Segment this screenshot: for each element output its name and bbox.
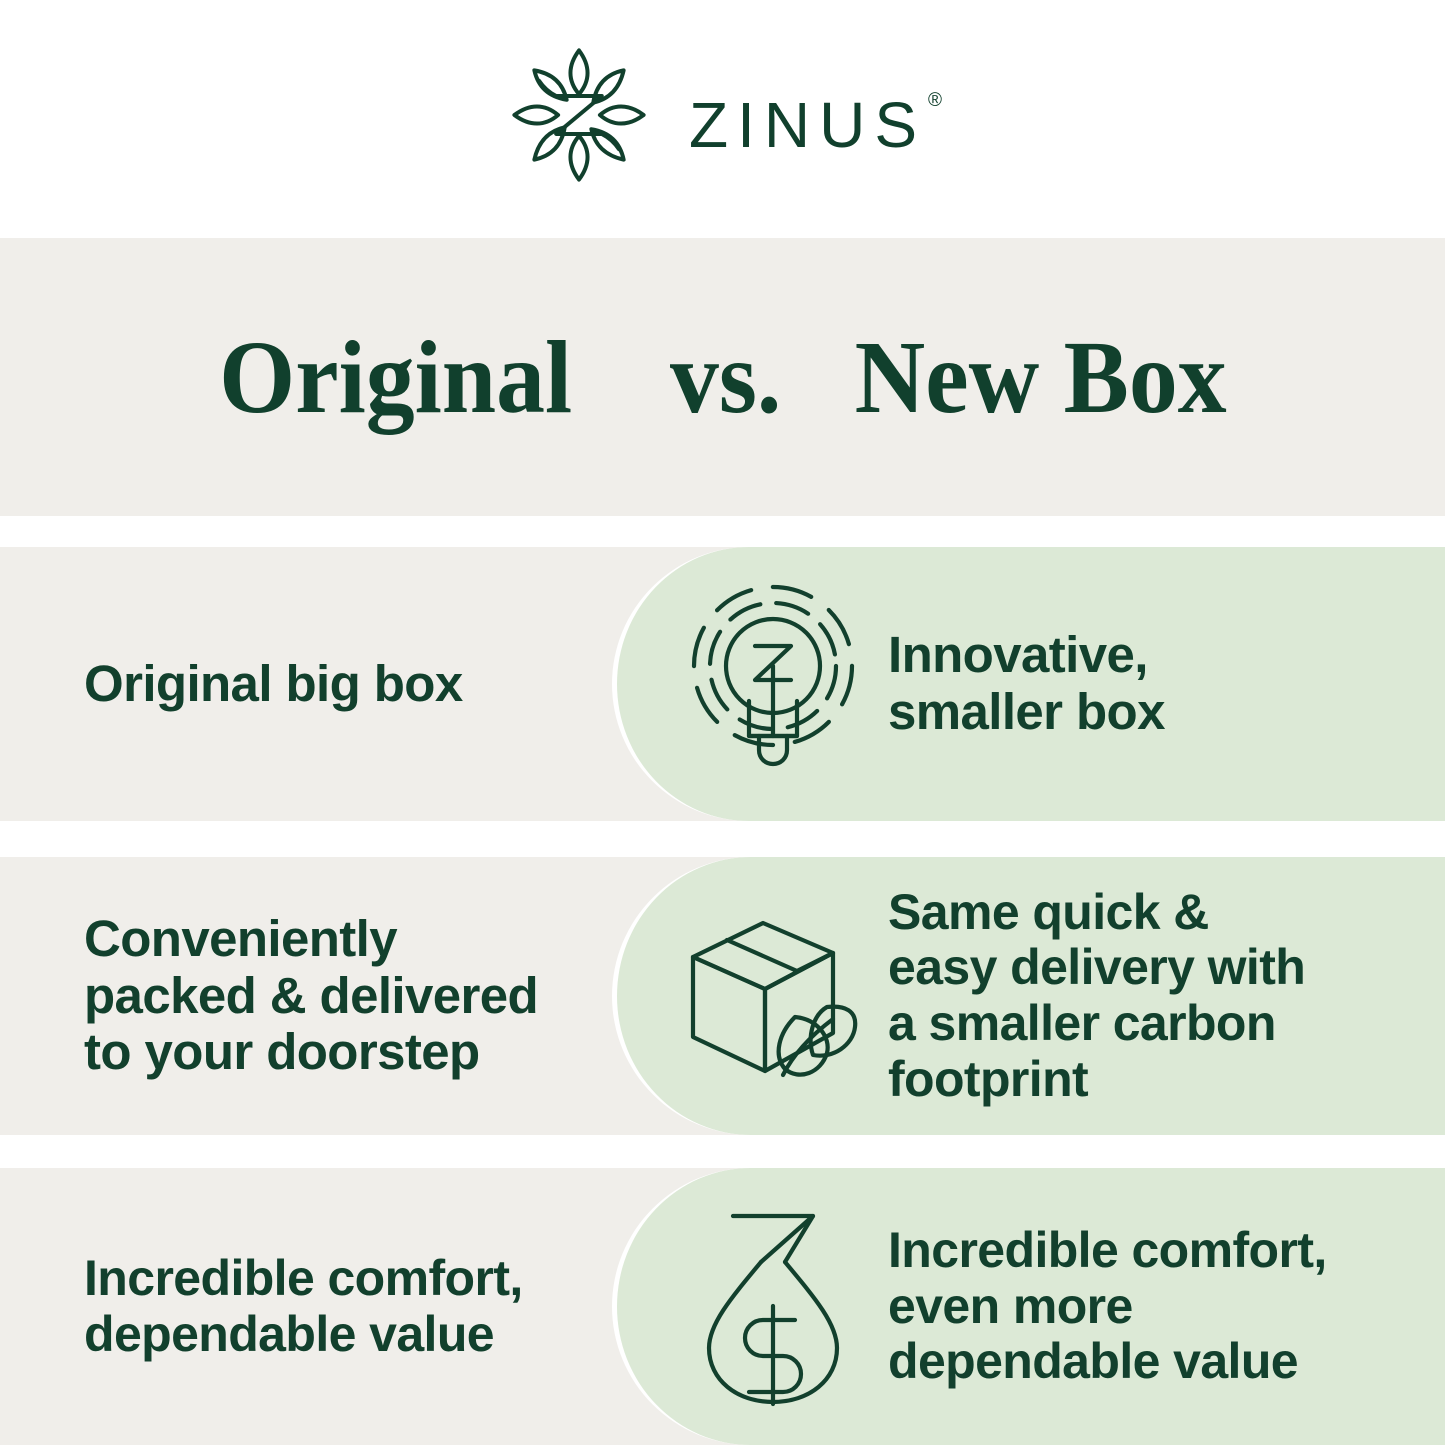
row-2-left-cell: Conveniently packed & delivered to your … [0,857,612,1135]
row-2-right-label: Same quick & easy delivery with a smalle… [888,885,1305,1108]
money-bag-dollar-icon [665,1202,880,1412]
wordmark-text: ZINUS [689,93,926,157]
row-3-left-label: Incredible comfort, dependable value [84,1251,523,1363]
comparison-row-2: Conveniently packed & delivered to your … [0,857,1445,1135]
comparison-row-1: Original big box [0,547,1445,821]
wordmark: ZINUS ® [689,83,942,147]
comparison-row-3: Incredible comfort, dependable value Inc… [0,1168,1445,1445]
registered-mark: ® [928,91,942,110]
page-title: Original vs. New Box [219,318,1226,437]
row-2-left-label: Conveniently packed & delivered to your … [84,911,538,1082]
row-2-right-pill: Same quick & easy delivery with a smalle… [612,857,1445,1135]
row-1-left-label: Original big box [84,656,463,713]
row-1-left-cell: Original big box [0,547,612,821]
row-3-right-pill: Incredible comfort, even more dependable… [612,1168,1445,1445]
lightbulb-z-icon [665,584,880,784]
eco-box-leaf-icon [665,909,880,1084]
row-3-left-cell: Incredible comfort, dependable value [0,1168,612,1445]
row-3-right-label: Incredible comfort, even more dependable… [888,1223,1327,1390]
row-1-right-pill: Innovative, smaller box [612,547,1445,821]
row-1-right-label: Innovative, smaller box [888,627,1165,741]
brand-header: ZINUS ® [0,0,1445,238]
zinus-leaf-monogram-icon [503,39,655,191]
title-band: Original vs. New Box [0,238,1445,516]
logo: ZINUS ® [503,39,942,191]
